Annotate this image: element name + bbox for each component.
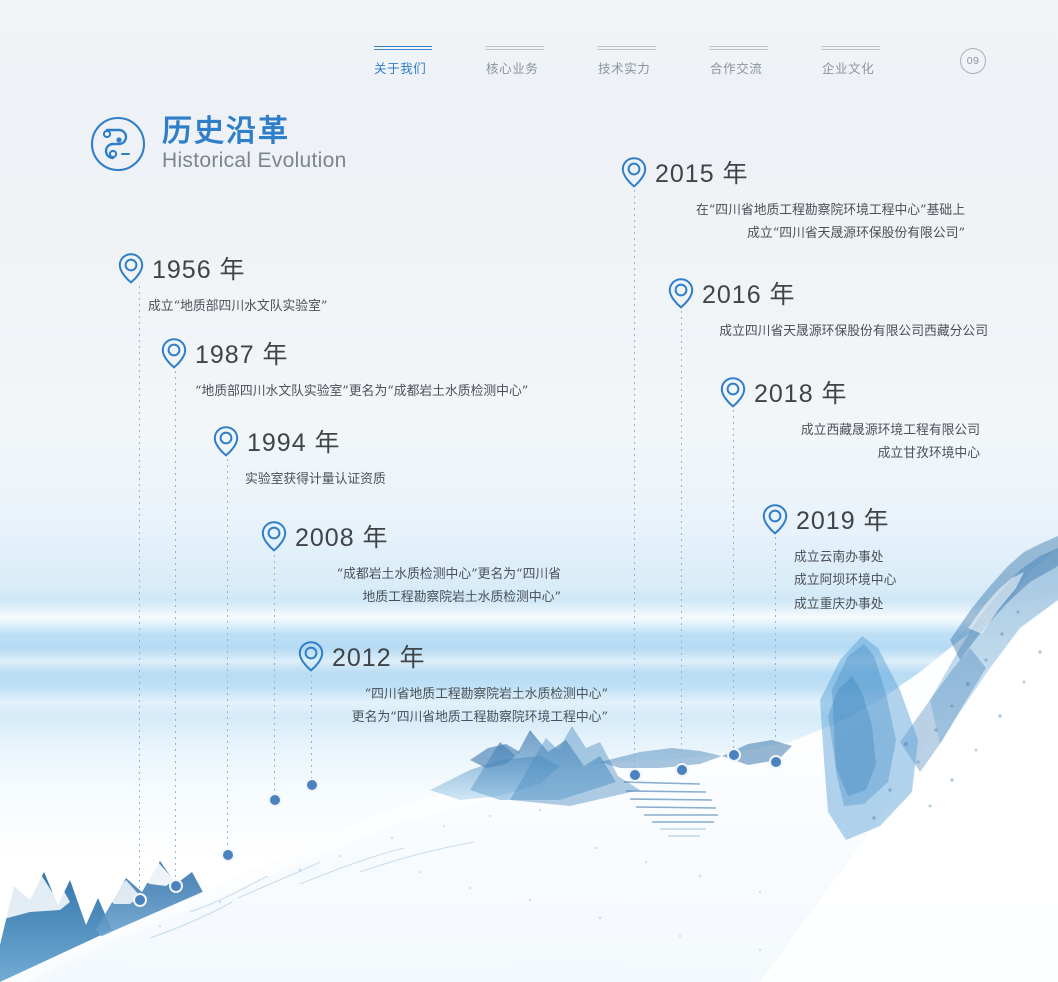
connector-2012-endpoint-dot	[305, 778, 319, 792]
timeline-desc: 成立云南办事处 成立阿坝环境中心 成立重庆办事处	[794, 546, 896, 616]
timeline-year: 2012 年	[332, 638, 426, 674]
map-pin-icon	[298, 640, 324, 672]
nav-item-technical-strength[interactable]: 技术实力	[598, 46, 656, 77]
map-pin-icon	[161, 337, 187, 369]
nav-item-corporate-culture[interactable]: 企业文化	[822, 46, 880, 77]
timeline-desc-line: 成立“地质部四川水文队实验室”	[148, 295, 327, 318]
timeline-entry-2016: 2016 年 成立四川省天晟源环保股份有限公司西藏分公司	[668, 275, 988, 343]
timeline-head: 1987 年	[161, 335, 528, 371]
nav-item-core-business[interactable]: 核心业务	[486, 46, 544, 77]
timeline-entry-1956: 1956 年 成立“地质部四川水文队实验室”	[118, 250, 327, 318]
connector-1956-endpoint-dot	[133, 893, 147, 907]
map-pin-icon	[118, 252, 144, 284]
map-pin-icon	[762, 503, 788, 535]
timeline-head: 2012 年	[298, 638, 608, 674]
nav-item-cooperation[interactable]: 合作交流	[710, 46, 768, 77]
timeline-desc-line: 成立西藏晟源环境工程有限公司	[754, 419, 980, 442]
nav-underline	[822, 46, 880, 50]
top-navigation[interactable]: 关于我们 核心业务 技术实力 合作交流 企业文化	[374, 46, 934, 77]
timeline-desc-line: 成立云南办事处	[794, 546, 896, 569]
connector-1994-endpoint-dot	[221, 848, 235, 862]
timeline-head: 1994 年	[213, 423, 386, 459]
connector-2008-endpoint-dot	[268, 793, 282, 807]
timeline-year: 2016 年	[702, 275, 796, 311]
connector-2016-endpoint-dot	[675, 763, 689, 777]
map-pin-icon	[720, 376, 746, 408]
page-number-badge: 09	[960, 48, 986, 74]
timeline-desc: “成都岩土水质检测中心”更名为“四川省 地质工程勘察院岩土水质检测中心”	[299, 563, 561, 610]
page-title-en: Historical Evolution	[162, 149, 347, 173]
timeline-entry-2015: 2015 年 在“四川省地质工程勘察院环境工程中心”基础上 成立“四川省天晟源环…	[621, 154, 965, 246]
timeline-desc-line: 成立甘孜环境中心	[754, 442, 980, 465]
connector-2015	[634, 190, 635, 775]
timeline-desc-line: 地质工程勘察院岩土水质检测中心”	[299, 586, 561, 609]
connector-2015-endpoint-dot	[628, 768, 642, 782]
timeline-desc: 在“四川省地质工程勘察院环境工程中心”基础上 成立“四川省天晟源环保股份有限公司…	[621, 199, 965, 246]
timeline-entry-2018: 2018 年 成立西藏晟源环境工程有限公司 成立甘孜环境中心	[720, 374, 980, 466]
connector-1987	[175, 371, 176, 886]
timeline-entry-2012: 2012 年 “四川省地质工程勘察院岩土水质检测中心” 更名为“四川省地质工程勘…	[298, 638, 608, 730]
nav-underline	[486, 46, 544, 50]
connector-2019-endpoint-dot	[769, 755, 783, 769]
section-header: 历史沿革 Historical Evolution	[88, 114, 347, 174]
timeline-entry-2008: 2008 年 “成都岩土水质检测中心”更名为“四川省 地质工程勘察院岩土水质检测…	[261, 518, 561, 610]
timeline-year: 2019 年	[796, 501, 890, 537]
timeline-year: 1956 年	[152, 250, 246, 286]
timeline-head: 2015 年	[621, 154, 965, 190]
timeline-desc-line: 更名为“四川省地质工程勘察院环境工程中心”	[320, 706, 608, 729]
timeline-desc-line: 成立重庆办事处	[794, 593, 896, 616]
nav-label: 核心业务	[486, 58, 544, 77]
map-pin-icon	[668, 277, 694, 309]
timeline-head: 1956 年	[118, 250, 327, 286]
connector-1956	[139, 286, 140, 900]
page-title-cn: 历史沿革	[162, 115, 347, 149]
nav-label: 合作交流	[710, 58, 768, 77]
timeline-desc-line: 在“四川省地质工程勘察院环境工程中心”基础上	[621, 199, 965, 222]
timeline-head: 2019 年	[762, 501, 896, 537]
timeline-year: 1987 年	[195, 335, 289, 371]
timeline-desc-line: “四川省地质工程勘察院岩土水质检测中心”	[320, 683, 608, 706]
map-pin-icon	[213, 425, 239, 457]
timeline-head: 2008 年	[261, 518, 561, 554]
nav-item-about[interactable]: 关于我们	[374, 46, 432, 77]
timeline-entry-1994: 1994 年 实验室获得计量认证资质	[213, 423, 386, 491]
connector-1987-endpoint-dot	[169, 879, 183, 893]
connector-2016	[681, 311, 682, 770]
timeline-desc: 成立西藏晟源环境工程有限公司 成立甘孜环境中心	[754, 419, 980, 466]
timeline-year: 2015 年	[655, 154, 749, 190]
map-pin-icon	[621, 156, 647, 188]
timeline-year: 2008 年	[295, 518, 389, 554]
nav-underline	[374, 46, 432, 50]
timeline-desc-line: “地质部四川水文队实验室”更名为“成都岩土水质检测中心”	[195, 380, 528, 403]
connector-1994	[227, 459, 228, 855]
timeline-year: 1994 年	[247, 423, 341, 459]
nav-label: 技术实力	[598, 58, 656, 77]
route-circle-icon	[88, 114, 148, 174]
timeline-desc-line: 成立“四川省天晟源环保股份有限公司”	[621, 222, 965, 245]
timeline-head: 2016 年	[668, 275, 988, 311]
nav-label: 企业文化	[822, 58, 880, 77]
map-pin-icon	[261, 520, 287, 552]
timeline-desc-line: 实验室获得计量认证资质	[245, 468, 386, 491]
timeline-entry-1987: 1987 年 “地质部四川水文队实验室”更名为“成都岩土水质检测中心”	[161, 335, 528, 403]
timeline-desc-line: 成立阿坝环境中心	[794, 569, 896, 592]
timeline-desc: “四川省地质工程勘察院岩土水质检测中心” 更名为“四川省地质工程勘察院环境工程中…	[320, 683, 608, 730]
timeline-entry-2019: 2019 年 成立云南办事处 成立阿坝环境中心 成立重庆办事处	[762, 501, 896, 616]
nav-label: 关于我们	[374, 58, 432, 77]
timeline-year: 2018 年	[754, 374, 848, 410]
nav-underline	[598, 46, 656, 50]
timeline-desc-line: “成都岩土水质检测中心”更名为“四川省	[299, 563, 561, 586]
connector-2018-endpoint-dot	[727, 748, 741, 762]
timeline-head: 2018 年	[720, 374, 980, 410]
timeline-desc-line: 成立四川省天晟源环保股份有限公司西藏分公司	[668, 320, 988, 343]
nav-underline	[710, 46, 768, 50]
